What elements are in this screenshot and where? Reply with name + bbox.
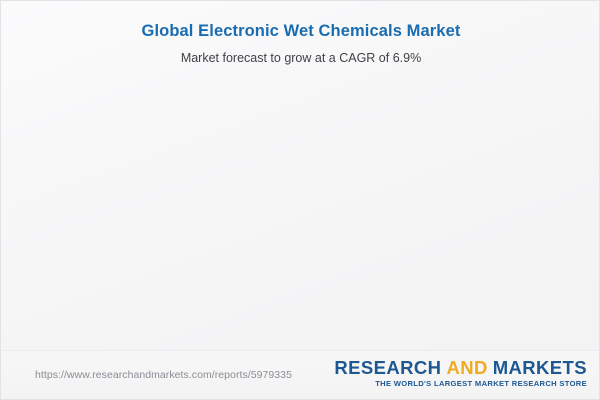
logo-word-research: RESEARCH [334, 357, 441, 378]
research-and-markets-logo[interactable]: RESEARCHANDMARKETS THE WORLD'S LARGEST M… [334, 357, 587, 389]
logo-tagline: THE WORLD'S LARGEST MARKET RESEARCH STOR… [334, 379, 587, 389]
chart-plot-area: USD 4.32 Billion [1, 1, 600, 349]
logo-wordmark: RESEARCHANDMARKETS [334, 357, 587, 378]
footer: https://www.researchandmarkets.com/repor… [1, 350, 600, 400]
market-infographic: Global Electronic Wet Chemicals Market M… [0, 0, 600, 400]
report-url[interactable]: https://www.researchandmarkets.com/repor… [35, 369, 292, 381]
logo-word-markets: MARKETS [493, 357, 587, 378]
logo-word-and: AND [446, 357, 487, 378]
